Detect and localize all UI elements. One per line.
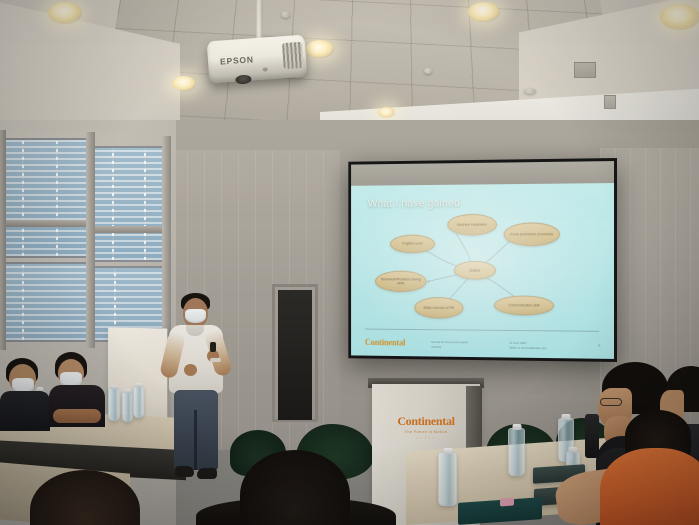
water-bottle[interactable] [133, 386, 144, 418]
presenter-shoe [175, 466, 194, 477]
attendee-crossed-arms [53, 409, 101, 423]
blind-cord[interactable] [144, 148, 146, 260]
mindmap-node-communication-skill: Communication skill [494, 295, 554, 315]
blind-cord[interactable] [56, 140, 58, 256]
window-mullion-vertical [0, 130, 6, 350]
projector-vent [282, 42, 304, 69]
smoke-detector-icon [281, 11, 290, 18]
window-pane [0, 262, 90, 342]
mindmap-node-teamwork-skills: Teamwork/Problem solving skills [375, 271, 426, 293]
presentation-slide: What I have gained Machine in [351, 183, 614, 359]
audience-member-left-1 [0, 358, 52, 428]
ceiling-air-vent [604, 95, 616, 109]
doorway[interactable] [278, 290, 312, 420]
slide-page-number: 9 [598, 344, 600, 348]
mindmap-node-machine-installation: Machine installation [447, 214, 497, 236]
audience-member-orange-shirt [600, 448, 699, 525]
conference-room-photo: EPSON [0, 0, 699, 525]
bottle-cap [569, 447, 578, 453]
sprinkler-icon [424, 68, 432, 74]
bottle-cap [111, 385, 118, 389]
slide-date-line1: 30 June 2022 [509, 340, 526, 344]
bottle-cap [562, 414, 571, 420]
slide-date-line2: Within IL (IA Confidential, etc) [509, 345, 546, 350]
projection-screen: What I have gained Machine in [348, 158, 617, 362]
presentation-clicker[interactable] [210, 342, 216, 352]
bottle-cap [443, 448, 452, 454]
blind-cord[interactable] [22, 140, 24, 256]
presenter-leg-seam [194, 410, 197, 470]
ceiling-downlight [378, 107, 395, 118]
podium-subtag: ▪ ▪ ▪ ▪ ▪ [388, 436, 464, 440]
ceiling-projector: EPSON [207, 35, 308, 84]
ceiling-downlight [48, 2, 82, 24]
presenter [160, 292, 234, 487]
attendee-torso [0, 391, 50, 431]
window-blinds[interactable] [0, 140, 88, 256]
window-pane [0, 138, 90, 258]
podium-continental-logo: Continental [388, 414, 464, 429]
window-blinds[interactable] [94, 148, 162, 260]
wristwatch [210, 358, 221, 362]
slide-continental-logo: Continental [365, 337, 405, 347]
window-mullion [94, 226, 162, 233]
sticky-note [500, 498, 514, 507]
water-bottle[interactable] [508, 428, 525, 476]
mindmap-node-basic-concept-fm: Basic concept of FM [414, 297, 463, 319]
water-bottle[interactable] [122, 392, 133, 422]
bottle-cap [512, 424, 521, 430]
ceiling-downlight [660, 4, 699, 30]
ceiling-downlight [468, 2, 500, 22]
ceiling-downlight [306, 40, 334, 58]
presenter-shoe [197, 468, 217, 479]
slide-classification-line2: meeting [431, 344, 441, 348]
ceiling-air-vent [574, 62, 596, 78]
window-blinds[interactable] [0, 264, 88, 340]
water-bottle[interactable] [108, 388, 120, 421]
podium-tagline: The Future in Motion [388, 429, 464, 434]
mindmap-node-english-level: English Level [390, 235, 435, 254]
audience-member-left-2 [47, 352, 109, 430]
window-mullion [0, 220, 88, 227]
window-mullion-vertical [86, 132, 95, 348]
ceiling-speaker-icon [524, 88, 536, 94]
blind-cord[interactable] [22, 264, 24, 340]
ceiling-downlight [172, 76, 196, 91]
projector-brand-label: EPSON [220, 54, 254, 66]
presenter-face-mask [185, 309, 206, 323]
window-pane [92, 146, 164, 262]
water-bottle[interactable] [438, 452, 457, 506]
blind-cord[interactable] [112, 148, 114, 260]
presenter-left-hand [184, 364, 197, 376]
projector-status-led [263, 67, 268, 71]
bottle-cap [124, 389, 131, 393]
mindmap-node-gains: Gains [454, 261, 496, 280]
mindmap-node-know-production-processes: Know production processes [504, 222, 560, 246]
screen-top-margin [351, 161, 614, 186]
projector-mount-pole [256, 0, 263, 42]
eyeglasses [600, 398, 622, 406]
bottle-cap [135, 383, 142, 387]
